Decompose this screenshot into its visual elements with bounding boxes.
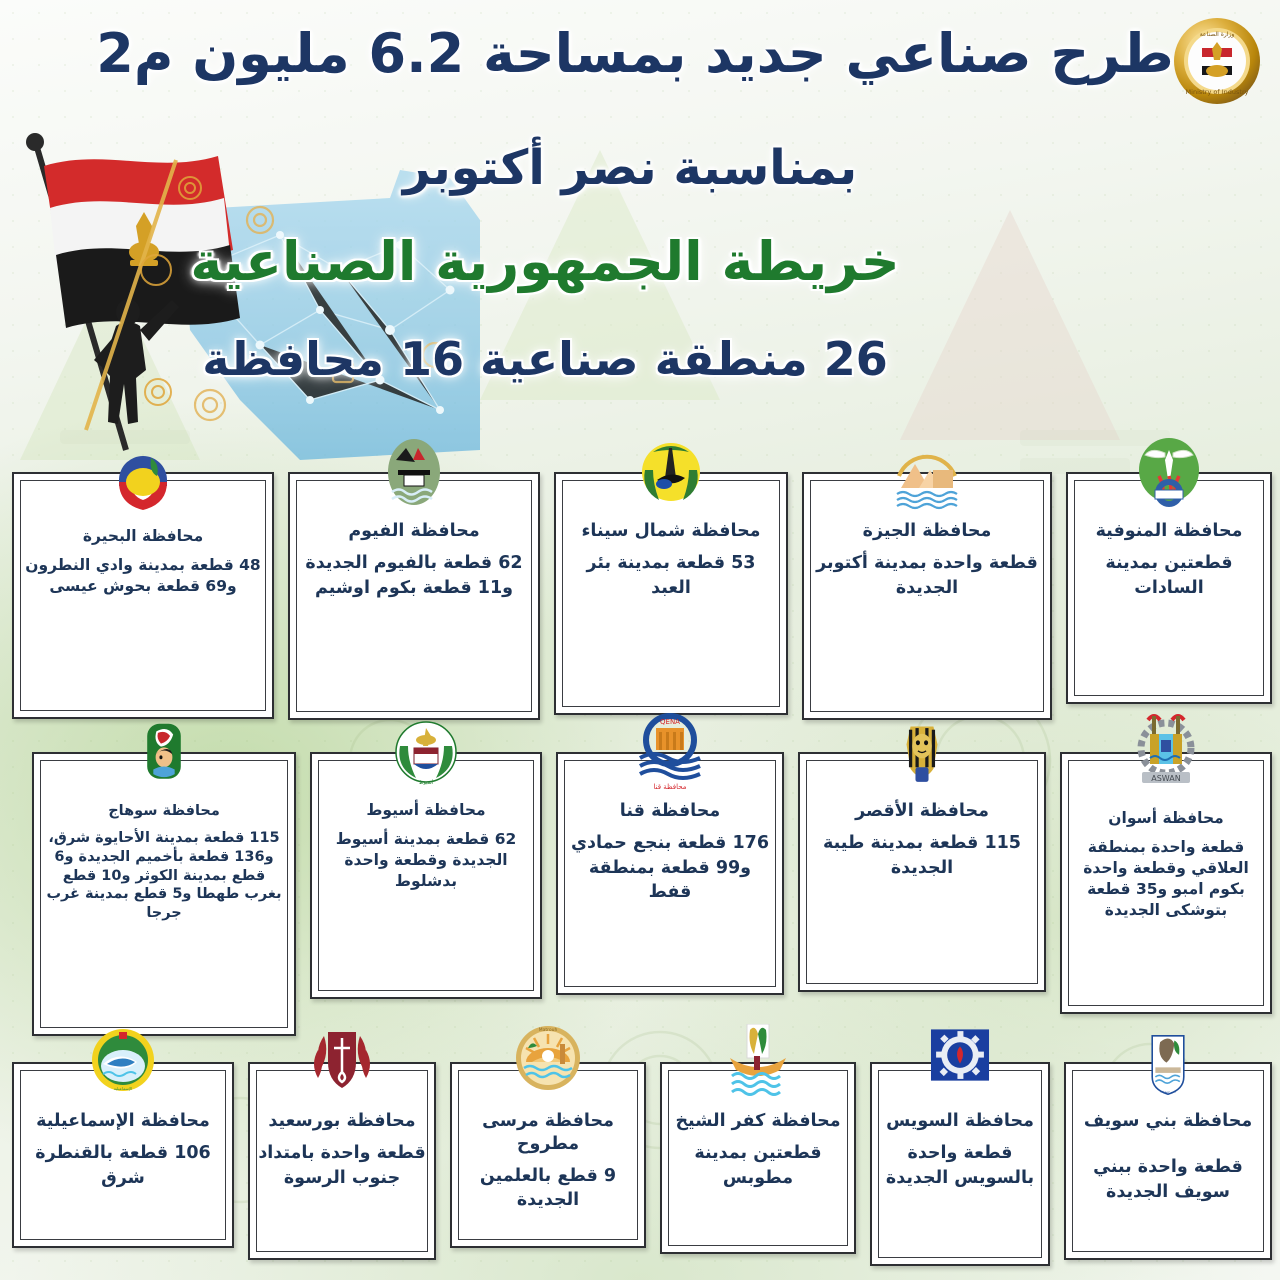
card-detail-text: قطعتين بمدينة مطوبس	[670, 1141, 846, 1191]
governorate-card[interactable]: ASWAN محافظة أسوان قطعة واحدة بمنطقة الع…	[1060, 752, 1272, 1014]
card-detail-text: 62 قطعة بالفيوم الجديدة و11 قطعة بكوم او…	[298, 551, 530, 601]
card-detail-text: قطعة واحدة بامتداد جنوب الرسوة	[258, 1141, 426, 1191]
governorate-card[interactable]: محافظة سوهاج 115 قطعة بمدينة الأحايوة شر…	[32, 752, 296, 1036]
governorate-card[interactable]: الإسماعيلية محافظة الإسماعيلية 106 قطعة …	[12, 1062, 234, 1248]
card-governorate-name: محافظة البحيرة	[83, 526, 203, 547]
card-governorate-name: محافظة كفر الشيخ	[675, 1110, 840, 1133]
card-governorate-name: محافظة بني سويف	[1084, 1110, 1252, 1133]
card-detail-text: قطعة واحدة بمدينة أكتوبر الجديدة	[812, 551, 1042, 601]
card-governorate-name: محافظة شمال سيناء	[581, 520, 760, 543]
svg-text:البحيرة: البحيرة	[133, 500, 153, 508]
governorate-card[interactable]: محافظة بورسعيد قطعة واحدة بامتداد جنوب ا…	[248, 1062, 436, 1260]
kafr-el-sheikh-crest-icon	[717, 1024, 799, 1106]
suez-crest-icon	[914, 1026, 1006, 1096]
governorate-card[interactable]: محافظة شمال سيناء 53 قطعة بمدينة بئر الع…	[554, 472, 788, 715]
governorate-card[interactable]: Matrouh محافظة مرسى مطروح 9 قطع بالعلمين…	[450, 1062, 646, 1248]
card-governorate-name: محافظة أسوان	[1108, 808, 1223, 829]
svg-text:QENA: QENA	[660, 718, 680, 726]
card-governorate-name: محافظة الأقصر	[855, 800, 989, 823]
card-detail-text: 106 قطعة بالقنطرة شرق	[22, 1141, 224, 1191]
card-detail-text: قطعة واحدة بالسويس الجديدة	[880, 1141, 1040, 1191]
governorate-card-grid: محافظة المنوفية قطعتين بمدينة السادات مح…	[0, 0, 1280, 1280]
card-governorate-name: محافظة بورسعيد	[268, 1110, 415, 1133]
governorate-card[interactable]: محافظة الأقصر 115 قطعة بمدينة طيبة الجدي…	[798, 752, 1046, 992]
card-governorate-name: محافظة أسيوط	[366, 800, 485, 821]
card-row-3: بني سويف محافظة بني سويف قطعة واحدة ببني…	[0, 1062, 1280, 1266]
governorate-card[interactable]: محافظة السويس قطعة واحدة بالسويس الجديدة	[870, 1062, 1050, 1266]
svg-text:ASWAN: ASWAN	[1151, 774, 1180, 783]
svg-text:أسيوط: أسيوط	[419, 779, 434, 786]
card-governorate-name: محافظة مرسى مطروح	[460, 1110, 636, 1156]
port-said-crest-icon	[299, 1024, 385, 1106]
svg-text:محافظة قنا: محافظة قنا	[653, 783, 686, 791]
card-detail-text: قطعة واحدة بمنطقة العلاقي وقطعة واحدة بك…	[1070, 837, 1262, 921]
sohag-crest-icon	[135, 706, 193, 798]
card-detail-text: 115 قطعة بمدينة طيبة الجديدة	[808, 831, 1036, 881]
governorate-card[interactable]: محافظة المنوفية قطعتين بمدينة السادات	[1066, 472, 1272, 704]
card-detail-text: قطعتين بمدينة السادات	[1076, 551, 1262, 601]
beni-suef-crest-icon: بني سويف	[1138, 1022, 1198, 1108]
card-detail-text: 53 قطعة بمدينة بئر العبد	[564, 551, 778, 601]
qena-crest-icon: QENA محافظة قنا	[624, 710, 716, 792]
governorate-card[interactable]: البحيرة محافظة البحيرة 48 قطعة بمدينة وا…	[12, 472, 274, 719]
card-governorate-name: محافظة الفيوم	[348, 520, 479, 543]
governorate-card[interactable]: QENA محافظة قنا محافظة قنا 176 قطعة بنجع…	[556, 752, 784, 995]
card-governorate-name: محافظة الجيزة	[863, 520, 992, 543]
svg-text:Matrouh: Matrouh	[539, 1027, 558, 1033]
card-detail-text: 115 قطعة بمدينة الأحايوة شرق، و136 قطعة …	[42, 829, 286, 923]
card-detail-text: 62 قطعة بمدينة أسيوط الجديدة وقطعة واحدة…	[320, 829, 532, 892]
card-governorate-name: محافظة المنوفية	[1096, 520, 1243, 543]
card-row-1: محافظة المنوفية قطعتين بمدينة السادات مح…	[0, 472, 1280, 720]
card-detail-text: قطعة واحدة ببني سويف الجديدة	[1074, 1155, 1262, 1205]
card-detail-text: 9 قطع بالعلمين الجديدة	[460, 1164, 636, 1214]
assiut-crest-icon: أسيوط	[388, 716, 464, 798]
card-detail-text: 176 قطعة بنجع حمادي و99 قطعة بمنطقة قفط	[566, 831, 774, 906]
north-sinai-crest-icon	[633, 436, 709, 518]
menoufia-crest-icon	[1131, 436, 1207, 518]
card-governorate-name: محافظة سوهاج	[108, 802, 220, 821]
governorate-card[interactable]: محافظة الفيوم 62 قطعة بالفيوم الجديدة و1…	[288, 472, 540, 720]
aswan-crest-icon: ASWAN	[1120, 710, 1212, 792]
ismailia-crest-icon: الإسماعيلية	[81, 1024, 165, 1106]
governorate-card[interactable]: محافظة كفر الشيخ قطعتين بمدينة مطوبس	[660, 1062, 856, 1254]
card-governorate-name: محافظة الإسماعيلية	[36, 1110, 210, 1133]
luxor-crest-icon	[891, 708, 953, 802]
card-governorate-name: محافظة قنا	[620, 800, 720, 823]
governorate-card[interactable]: محافظة الجيزة قطعة واحدة بمدينة أكتوبر ا…	[802, 472, 1052, 720]
svg-text:الإسماعيلية: الإسماعيلية	[114, 1086, 133, 1092]
beheira-crest-icon: البحيرة	[101, 436, 185, 518]
matrouh-crest-icon: Matrouh	[506, 1022, 590, 1104]
giza-crest-icon	[872, 436, 982, 518]
fayoum-crest-icon	[376, 436, 452, 518]
card-row-2: ASWAN محافظة أسوان قطعة واحدة بمنطقة الع…	[0, 752, 1280, 1036]
card-governorate-name: محافظة السويس	[886, 1110, 1034, 1133]
card-detail-text: 48 قطعة بمدينة وادي النطرون و69 قطعة بحو…	[22, 555, 264, 597]
governorate-card[interactable]: بني سويف محافظة بني سويف قطعة واحدة ببني…	[1064, 1062, 1272, 1260]
governorate-card[interactable]: أسيوط محافظة أسيوط 62 قطعة بمدينة أسيوط …	[310, 752, 542, 999]
svg-text:بني سويف: بني سويف	[1160, 1090, 1176, 1094]
